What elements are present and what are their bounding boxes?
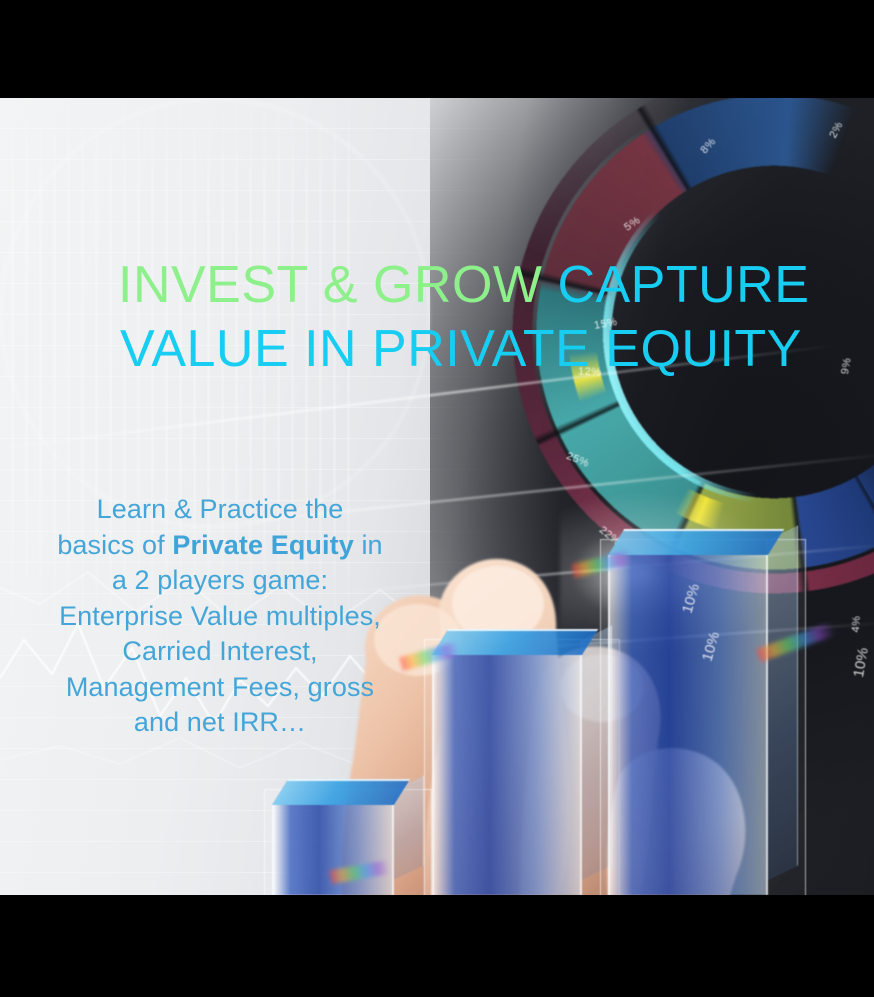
- headline-segment-capture: CAPTURE: [557, 256, 809, 314]
- headline-segment-invest-grow: INVEST & GROW: [118, 256, 557, 314]
- bar-front-face: [432, 655, 582, 895]
- subcopy-emphasis-private-equity: Private Equity: [172, 530, 353, 560]
- letterbox-bar-top: [0, 0, 874, 98]
- subcopy-line-1: Learn & Practice the: [22, 492, 418, 528]
- subcopy-line-6: Management Fees, gross: [22, 670, 418, 706]
- subcopy-line-2-post: in: [354, 530, 383, 560]
- bar-top-face: [608, 529, 784, 555]
- banner-stage: 2% 8% 5% 15% 12% 25% 22% 9% 4%: [0, 0, 874, 997]
- subcopy-line-3: a 2 players game:: [22, 563, 418, 599]
- bar-side-face: [766, 525, 798, 881]
- bar-top-face: [272, 779, 410, 805]
- letterbox-bar-bottom: [0, 895, 874, 997]
- subcopy-line-7: and net IRR…: [22, 705, 418, 741]
- banner-subcopy: Learn & Practice the basics of Private E…: [22, 492, 418, 741]
- subcopy-line-2: basics of Private Equity in: [22, 528, 418, 564]
- headline-line-two: VALUE IN PRIVATE EQUITY: [120, 317, 809, 381]
- subcopy-line-5: Carried Interest,: [22, 634, 418, 670]
- bar-chart-column-medium: [432, 655, 582, 895]
- banner-headline: INVEST & GROW CAPTURE VALUE IN PRIVATE E…: [118, 253, 809, 381]
- banner-artwork: 2% 8% 5% 15% 12% 25% 22% 9% 4%: [0, 98, 874, 895]
- subcopy-line-4: Enterprise Value multiples,: [22, 599, 418, 635]
- subcopy-line-2-pre: basics of: [57, 530, 172, 560]
